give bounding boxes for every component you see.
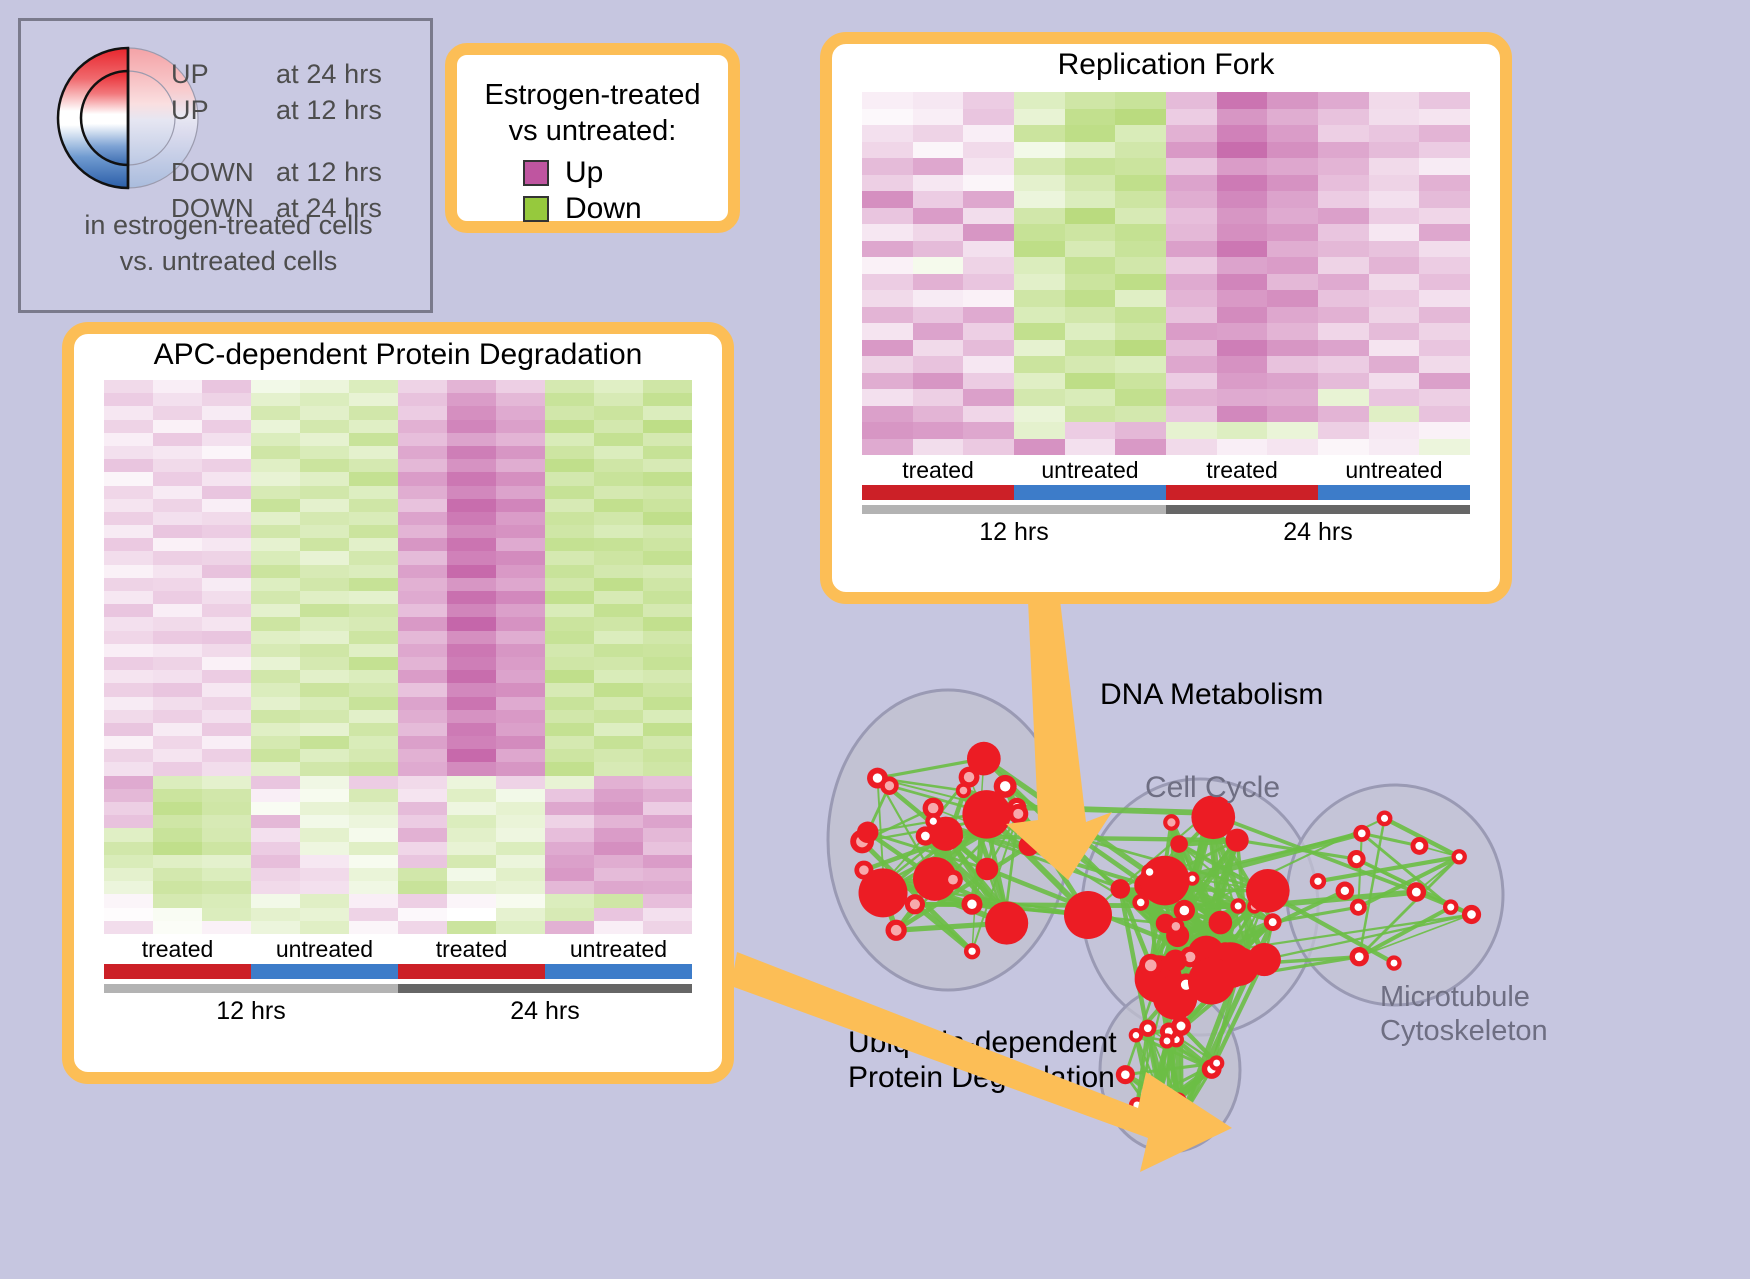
heatmap-cell	[153, 486, 202, 499]
up-color-swatch	[523, 160, 549, 186]
heatmap-cell	[1217, 406, 1268, 423]
heatmap-cell	[963, 158, 1014, 175]
heatmap-cell	[862, 125, 913, 142]
heatmap-cell	[594, 789, 643, 802]
heatmap-cell	[1014, 290, 1065, 307]
heatmap-cell	[1217, 439, 1268, 456]
heatmap-cell	[202, 802, 251, 815]
heatmap-cell	[1166, 389, 1217, 406]
heatmap-cell	[349, 578, 398, 591]
heatmap-cell	[300, 499, 349, 512]
heatmap-cell	[300, 657, 349, 670]
gradient-key-label: UP	[171, 59, 276, 90]
heatmap-cell	[349, 538, 398, 551]
heatmap-cell	[202, 565, 251, 578]
network-node	[976, 858, 999, 881]
heatmap-cell	[398, 789, 447, 802]
heatmap-cell	[1115, 224, 1166, 241]
heatmap-cell	[447, 683, 496, 696]
heatmap-cell	[545, 894, 594, 907]
legend-title-line1: Estrogen-treated	[457, 77, 728, 113]
heatmap-cell	[153, 868, 202, 881]
heatmap-cell	[1166, 290, 1217, 307]
heatmap-cell	[1014, 422, 1065, 439]
heatmap-cell	[496, 617, 545, 630]
heatmap-cell	[496, 604, 545, 617]
heatmap-cell	[496, 723, 545, 736]
heatmap-cell	[153, 433, 202, 446]
network-node-core	[1381, 815, 1388, 822]
heatmap-cell	[1318, 241, 1369, 258]
heatmap-cell	[1014, 158, 1065, 175]
heatmap-cell	[862, 158, 913, 175]
network-node-core	[1143, 1111, 1149, 1117]
heatmap-cell	[1115, 158, 1166, 175]
heatmap-cell	[963, 191, 1014, 208]
heatmap-cell	[545, 736, 594, 749]
heatmap-cell	[251, 446, 300, 459]
heatmap-cell	[251, 894, 300, 907]
heatmap-cell	[913, 208, 964, 225]
heatmap-cell	[300, 670, 349, 683]
heatmap-cell	[862, 389, 913, 406]
heatmap-cell	[251, 776, 300, 789]
heatmap-cell	[594, 736, 643, 749]
heatmap-cell	[202, 842, 251, 855]
heatmap-cell	[300, 802, 349, 815]
heatmap-cell	[594, 446, 643, 459]
heatmap-cell	[1115, 191, 1166, 208]
heatmap-cell	[447, 855, 496, 868]
bar-treated	[104, 964, 251, 979]
legend-item-label: Down	[565, 192, 642, 226]
heatmap-cell	[447, 908, 496, 921]
heatmap-cell	[1217, 175, 1268, 192]
heatmap-cell	[862, 340, 913, 357]
network-node-core	[1177, 1022, 1186, 1031]
heatmap-cell	[643, 868, 692, 881]
heatmap-cell	[1369, 109, 1420, 126]
network-node-core	[1467, 910, 1476, 919]
heatmap-cell	[398, 551, 447, 564]
heatmap-cell	[1267, 92, 1318, 109]
heatmap-cell	[643, 657, 692, 670]
heatmap-cell	[496, 815, 545, 828]
heatmap-cell	[349, 406, 398, 419]
heatmap-cell	[545, 776, 594, 789]
heatmap-cell	[1065, 439, 1116, 456]
heatmap-cell	[300, 486, 349, 499]
heatmap-cell	[202, 631, 251, 644]
heatmap-cell	[398, 723, 447, 736]
heatmap-cell	[496, 486, 545, 499]
heatmap-cell	[594, 420, 643, 433]
heatmap-cell	[1318, 125, 1369, 142]
heatmap-cell	[1369, 208, 1420, 225]
network-node-core	[1456, 853, 1463, 860]
heatmap-cell	[202, 604, 251, 617]
heatmap-cell	[300, 697, 349, 710]
condition-label: treated	[862, 455, 1014, 485]
heatmap-cell	[202, 446, 251, 459]
heatmap-cell	[251, 486, 300, 499]
heatmap-cell	[1115, 290, 1166, 307]
heatmap-cell	[447, 512, 496, 525]
heatmap-cell	[594, 644, 643, 657]
heatmap-cell	[1166, 241, 1217, 258]
heatmap-cell	[349, 697, 398, 710]
heatmap-cell	[1419, 257, 1470, 274]
gradient-key-label: DOWN	[171, 157, 276, 188]
heatmap-cell	[1166, 439, 1217, 456]
heatmap-cell	[398, 591, 447, 604]
heatmap-cell	[251, 459, 300, 472]
heatmap-cell	[300, 617, 349, 630]
heatmap-cell	[104, 828, 153, 841]
heatmap-cell	[1115, 406, 1166, 423]
network-node-core	[968, 948, 975, 955]
heatmap-cell	[202, 525, 251, 538]
heatmap-cell	[104, 842, 153, 855]
network-node-core	[1447, 904, 1454, 911]
network-node-core	[1213, 1060, 1220, 1067]
heatmap-cell	[447, 406, 496, 419]
heatmap-cell	[447, 749, 496, 762]
heatmap-cell	[300, 776, 349, 789]
heatmap-cell	[496, 894, 545, 907]
heatmap-cell	[349, 723, 398, 736]
heatmap-cell	[202, 710, 251, 723]
gradient-key-row-down-12: DOWN at 12 hrs	[171, 157, 426, 193]
heatmap-cell	[1267, 191, 1318, 208]
network-node-core	[1144, 1024, 1152, 1032]
heatmap-cell	[398, 697, 447, 710]
heatmap-cell	[963, 307, 1014, 324]
heatmap-cell	[862, 406, 913, 423]
heatmap-cell	[1318, 257, 1369, 274]
heatmap-cell	[1318, 142, 1369, 159]
heatmap-cell	[153, 644, 202, 657]
heatmap-cell	[643, 749, 692, 762]
heatmap-cell	[300, 472, 349, 485]
heatmap-cell	[104, 420, 153, 433]
heatmap-cell	[349, 855, 398, 868]
heatmap-cell	[545, 670, 594, 683]
bar-untreated	[1014, 485, 1166, 500]
network-node-core	[928, 803, 939, 814]
heatmap-cell	[1014, 175, 1065, 192]
heatmap-cell	[1115, 307, 1166, 324]
heatmap-cell	[1217, 125, 1268, 142]
heatmap-cell	[862, 356, 913, 373]
network-node-core	[891, 925, 902, 936]
heatmap-cell	[1065, 158, 1116, 175]
heatmap-cell	[104, 697, 153, 710]
heatmap-cell	[398, 710, 447, 723]
heatmap-cell	[545, 591, 594, 604]
heatmap-cell	[496, 631, 545, 644]
heatmap-cell	[594, 578, 643, 591]
heatmap-cell	[1014, 406, 1065, 423]
bar-12hrs	[862, 505, 1166, 514]
heatmap-cell	[1217, 340, 1268, 357]
heatmap-cell	[643, 697, 692, 710]
heatmap-cell	[153, 908, 202, 921]
heatmap-cell	[251, 723, 300, 736]
heatmap-cell	[545, 815, 594, 828]
heatmap-cell	[1166, 109, 1217, 126]
heatmap-cell	[104, 644, 153, 657]
heatmap-cell	[1065, 323, 1116, 340]
heatmap-cell	[300, 512, 349, 525]
heatmap-cell	[398, 736, 447, 749]
heatmap-cell	[1369, 191, 1420, 208]
heatmap-cell	[862, 257, 913, 274]
heatmap-cell	[1166, 340, 1217, 357]
heatmap-cell	[153, 697, 202, 710]
heatmap-cell	[1267, 241, 1318, 258]
heatmap-cell	[104, 406, 153, 419]
heatmap-cell	[496, 420, 545, 433]
heatmap-cell	[963, 257, 1014, 274]
heatmap-cell	[594, 894, 643, 907]
heatmap-cell	[545, 512, 594, 525]
network-node	[859, 868, 908, 917]
heatmap-cell	[447, 459, 496, 472]
legend-item-down: Down	[523, 191, 728, 227]
heatmap-cell	[1369, 340, 1420, 357]
heatmap-cell	[963, 290, 1014, 307]
heatmap-cell	[1065, 109, 1116, 126]
heatmap-cell	[1065, 340, 1116, 357]
heatmap-cell	[643, 855, 692, 868]
heatmap-cell	[398, 762, 447, 775]
heatmap-cell	[251, 828, 300, 841]
condition-label: treated	[1166, 455, 1318, 485]
network-node-core	[1156, 1090, 1163, 1097]
heatmap-cell	[251, 604, 300, 617]
heatmap-cell	[447, 604, 496, 617]
heatmap-cell	[1115, 175, 1166, 192]
timepoint-labels: 12 hrs 24 hrs	[862, 514, 1470, 550]
heatmap-cell	[104, 802, 153, 815]
network-node-core	[1355, 952, 1364, 961]
heatmap-cell	[300, 683, 349, 696]
heatmap-cell	[300, 710, 349, 723]
heatmap-cell	[1065, 422, 1116, 439]
heatmap-cell	[913, 439, 964, 456]
heatmap-cell	[349, 565, 398, 578]
heatmap-cell	[1217, 224, 1268, 241]
heatmap-cell	[202, 617, 251, 630]
legend-item-up: Up	[523, 155, 728, 191]
heatmap-cell	[447, 380, 496, 393]
heatmap-cell	[545, 657, 594, 670]
heatmap-cell	[545, 604, 594, 617]
heatmap-cell	[447, 736, 496, 749]
heatmap-cell	[349, 380, 398, 393]
heatmap-cell	[300, 631, 349, 644]
heatmap-cell	[1267, 290, 1318, 307]
heatmap-cell	[398, 644, 447, 657]
heatmap-cell	[545, 617, 594, 630]
heatmap-cell	[545, 828, 594, 841]
heatmap-cell	[300, 406, 349, 419]
heatmap-cell	[202, 433, 251, 446]
heatmap-cell	[104, 908, 153, 921]
heatmap-cell	[398, 578, 447, 591]
gradient-key-box: UP at 24 hrs UP at 12 hrs DOWN at 12 hrs…	[18, 18, 433, 313]
heatmap-cell	[349, 894, 398, 907]
heatmap-cell	[153, 380, 202, 393]
heatmap-cell	[913, 125, 964, 142]
heatmap-cell	[1267, 439, 1318, 456]
heatmap-cell	[594, 631, 643, 644]
heatmap-cell	[643, 683, 692, 696]
panel-apc-dependent: APC-dependent Protein Degradation treate…	[62, 322, 734, 1084]
heatmap-cell	[398, 446, 447, 459]
heatmap-cell	[862, 92, 913, 109]
heatmap-cell	[496, 565, 545, 578]
heatmap-cell	[202, 855, 251, 868]
heatmap-cell	[1318, 109, 1369, 126]
heatmap-cell	[104, 433, 153, 446]
heatmap-cell	[594, 657, 643, 670]
heatmap-cell	[349, 710, 398, 723]
heatmap-cell	[300, 604, 349, 617]
heatmap-cell	[1065, 274, 1116, 291]
heatmap-cell	[1419, 307, 1470, 324]
heatmap-cell	[1065, 406, 1116, 423]
heatmap-cell	[398, 894, 447, 907]
heatmap-cell	[1065, 389, 1116, 406]
heatmap-cell	[349, 604, 398, 617]
heatmap-cell	[1318, 158, 1369, 175]
heatmap-cell	[447, 828, 496, 841]
heatmap-cell	[202, 815, 251, 828]
heatmap-cell	[398, 657, 447, 670]
heatmap-cell	[104, 855, 153, 868]
heatmap-cell	[1065, 125, 1116, 142]
heatmap-cell	[963, 422, 1014, 439]
heatmap-cell	[545, 881, 594, 894]
heatmap-cell	[1014, 142, 1065, 159]
network-node-core	[1145, 960, 1157, 972]
heatmap-cell	[1014, 241, 1065, 258]
heatmap-cell	[349, 644, 398, 657]
heatmap-cell	[349, 828, 398, 841]
heatmap-cell	[913, 241, 964, 258]
heatmap-cell	[349, 921, 398, 934]
heatmap-cell	[1115, 208, 1166, 225]
heatmap-cell	[496, 591, 545, 604]
heatmap-cell	[1115, 125, 1166, 142]
heatmap-cell	[398, 380, 447, 393]
heatmap-cell	[594, 723, 643, 736]
heatmap-cell	[251, 697, 300, 710]
network-node-core	[960, 787, 968, 795]
network-node-core	[1355, 903, 1363, 911]
heatmap-cell	[153, 578, 202, 591]
heatmap-cell	[1115, 389, 1166, 406]
heatmap-cell	[862, 323, 913, 340]
heatmap-cell	[594, 538, 643, 551]
heatmap-cell	[153, 565, 202, 578]
heatmap-cell	[153, 393, 202, 406]
heatmap-cell	[1217, 191, 1268, 208]
heatmap-cell	[1115, 356, 1166, 373]
heatmap-cell	[963, 340, 1014, 357]
heatmap-cell	[643, 881, 692, 894]
heatmap-cell	[594, 406, 643, 419]
heatmap-cell	[862, 307, 913, 324]
heatmap-cell	[1115, 92, 1166, 109]
heatmap-cell	[349, 881, 398, 894]
heatmap-cell	[202, 908, 251, 921]
heatmap-cell	[1267, 274, 1318, 291]
heatmap-cell	[153, 472, 202, 485]
network-node-core	[885, 781, 894, 790]
heatmap-cell	[643, 670, 692, 683]
heatmap-cell	[496, 736, 545, 749]
heatmap-cell	[1318, 373, 1369, 390]
gradient-key-time: at 12 hrs	[276, 157, 382, 188]
heatmap-cell	[643, 565, 692, 578]
heatmap-cell	[643, 894, 692, 907]
network-node-core	[859, 865, 869, 875]
heatmap-cell	[1419, 175, 1470, 192]
heatmap-cell	[1267, 257, 1318, 274]
bar-24hrs	[1166, 505, 1470, 514]
heatmap-cell	[913, 175, 964, 192]
timepoint-color-bar	[862, 505, 1470, 514]
heatmap-cell	[153, 723, 202, 736]
heatmap-cell	[496, 551, 545, 564]
network-node-core	[1133, 1101, 1140, 1108]
heatmap-cell	[251, 525, 300, 538]
heatmap-cell	[153, 420, 202, 433]
heatmap-cell	[202, 749, 251, 762]
heatmap-cell	[1267, 340, 1318, 357]
heatmap-cell	[496, 644, 545, 657]
heatmap-cell	[447, 617, 496, 630]
heatmap-cell	[1115, 323, 1166, 340]
heatmap-cell	[1318, 389, 1369, 406]
heatmap-cell	[1166, 373, 1217, 390]
time-label: 24 hrs	[398, 993, 692, 1029]
heatmap-cell	[913, 356, 964, 373]
network-diagram: DNA Metabolism Cell Cycle Microtubule Cy…	[800, 615, 1550, 1279]
network-node-core	[1164, 1104, 1173, 1113]
heatmap-cell	[104, 815, 153, 828]
bar-24hrs	[398, 984, 692, 993]
treatment-color-bar	[862, 485, 1470, 500]
heatmap-apc-dependent	[104, 380, 692, 934]
heatmap-cell	[398, 420, 447, 433]
heatmap-cell	[1318, 274, 1369, 291]
heatmap-cell	[545, 406, 594, 419]
network-node-core	[1000, 781, 1010, 791]
network-node-core	[1352, 855, 1360, 863]
network-node-core	[1235, 902, 1242, 909]
heatmap-cell	[104, 578, 153, 591]
heatmap-cell	[913, 340, 964, 357]
heatmap-cell	[202, 551, 251, 564]
heatmap-cell	[153, 802, 202, 815]
heatmap-cell	[913, 406, 964, 423]
heatmap-cell	[447, 894, 496, 907]
heatmap-cell	[643, 446, 692, 459]
